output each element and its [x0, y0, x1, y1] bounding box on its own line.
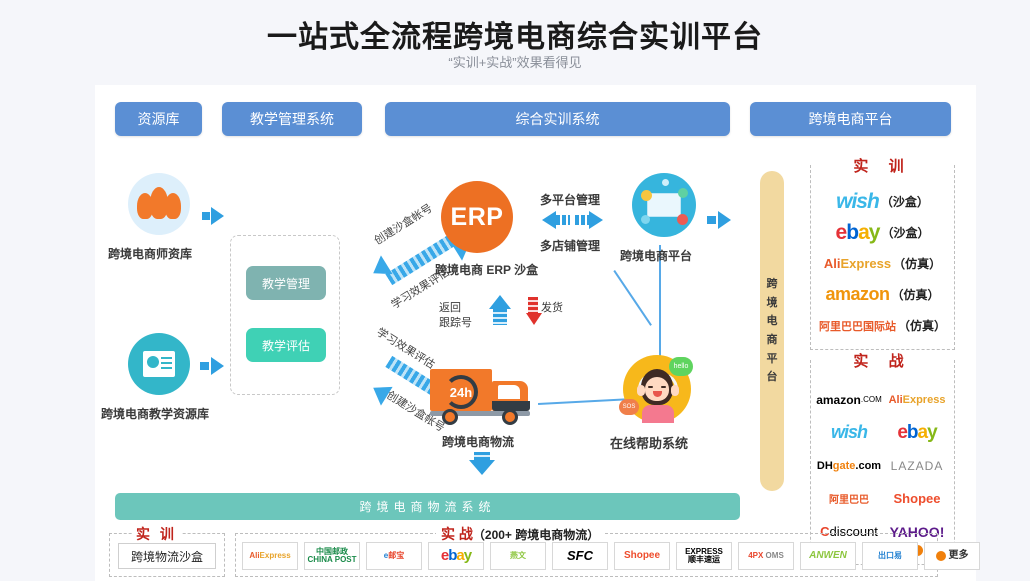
ebay-logo: ebay	[836, 221, 880, 245]
teacher-library-icon	[128, 173, 190, 235]
logistics-logo-sf-express: EXPRESS顺丰速运	[676, 542, 732, 570]
truck-24h-badge: 24h	[444, 375, 478, 409]
multi-shop-label: 多店铺管理	[540, 237, 600, 254]
training-row: AliExpress （仿真）	[811, 248, 954, 279]
practice-logo: Shopee	[883, 482, 951, 515]
teaching-resource-label: 跨境电商教学资源库	[101, 405, 209, 422]
teaching-resource-icon	[128, 333, 190, 395]
arrow-tail-icon	[200, 362, 209, 370]
wish-logo: wish	[836, 190, 879, 214]
practice-logo: wish	[815, 416, 883, 449]
arrow-down-icon	[526, 313, 542, 325]
practice-logo: LAZADA	[883, 449, 951, 482]
logistics-logo-sfc: SFC	[552, 542, 608, 570]
cross-border-platform-label: 跨境电商平台	[620, 247, 692, 264]
training-suffix: （沙盒）	[881, 193, 929, 210]
training-row: wish （沙盒）	[811, 186, 954, 217]
logistics-logo-4px: 4PX OMS	[738, 542, 794, 570]
arrow-bar-icon	[493, 309, 507, 325]
arrow-tail-icon	[707, 216, 716, 224]
training-panel-title: 实 训	[811, 155, 954, 176]
return-tracking-label-line1: 返回	[439, 299, 461, 315]
logistics-logo-anwen: ANWEN	[800, 542, 856, 570]
plus-icon	[936, 551, 946, 561]
nav-button-cross-border-ecommerce-platform[interactable]: 跨境电商平台	[750, 102, 951, 136]
page-title: 一站式全流程跨境电商综合实训平台	[0, 12, 1030, 56]
bottom-practice-group: 实 战（200+ 跨境电商物流） AliExpress 中国邮政CHINA PO…	[235, 533, 938, 577]
training-row: amazon （仿真）	[811, 279, 954, 310]
flow-label-create-sandbox-account: 创建沙盒帐号	[371, 200, 435, 249]
arrow-right-icon	[211, 357, 224, 375]
training-row: 阿里巴巴国际站 （仿真）	[811, 310, 954, 341]
logistics-logo-chukouyi: 出口易	[862, 542, 918, 570]
aliexpress-logo: AliExpress	[824, 256, 891, 271]
practice-logo: AliExpress	[883, 383, 951, 416]
connector-line	[538, 398, 628, 404]
sos-bubble: SOS	[619, 399, 639, 415]
training-suffix: （仿真）	[893, 255, 941, 272]
bottom-practice-count: （200+ 跨境电商物流）	[473, 528, 599, 542]
arrow-right-icon	[589, 211, 603, 229]
teaching-management-pill[interactable]: 教学管理	[246, 266, 326, 300]
arrow-bar-icon	[575, 215, 589, 225]
amazon-logo: amazon	[825, 284, 889, 305]
logistics-label: 跨境电商物流	[442, 433, 514, 450]
bottom-training-group: 实 训 跨境物流沙盒	[109, 533, 225, 577]
logistics-logo-shopee: Shopee	[614, 542, 670, 570]
logistics-truck-icon: 24h	[430, 365, 538, 427]
practice-logo: 阿里巴巴	[815, 482, 883, 515]
logistics-system-bar: 跨境电商物流系统	[115, 493, 740, 520]
nav-button-resource-library[interactable]: 资源库	[115, 102, 202, 136]
logistics-sandbox-box[interactable]: 跨境物流沙盒	[118, 543, 216, 569]
erp-sandbox-label: 跨境电商 ERP 沙盒	[435, 261, 538, 278]
training-row: ebay （沙盒）	[811, 217, 954, 248]
arrow-right-icon	[211, 207, 224, 225]
vertical-platform-bar: 跨境电商平台	[760, 171, 784, 491]
arrow-tail-icon	[202, 212, 210, 220]
hello-bubble: hello	[669, 357, 693, 376]
arrow-bar-icon	[528, 297, 538, 313]
training-suffix: （仿真）	[892, 286, 940, 303]
arrow-left-icon	[542, 211, 556, 229]
erp-logo: ERP	[441, 181, 513, 253]
bottom-practice-label: 实 战	[441, 526, 473, 542]
practice-panel-title: 实 战	[811, 350, 954, 371]
logistics-more-label: 更多	[949, 551, 969, 562]
logistics-logo-eyoubao: e邮宝	[366, 542, 422, 570]
page-subtitle: “实训+实战”效果看得见	[0, 52, 1030, 71]
training-suffix: （仿真）	[898, 317, 946, 334]
multi-platform-label: 多平台管理	[540, 191, 600, 208]
bottom-practice-title: 实 战（200+ 跨境电商物流）	[436, 524, 604, 544]
arrow-bar-icon	[556, 215, 570, 225]
training-suffix: （沙盒）	[881, 224, 929, 241]
diagram-card: 资源库 教学管理系统 综合实训系统 跨境电商平台 跨境电商师资库 跨境电商教学资…	[95, 85, 976, 581]
connector-line	[614, 270, 652, 326]
online-help-label: 在线帮助系统	[610, 433, 688, 452]
practice-logo: amazon.COM	[815, 383, 883, 416]
logistics-logo-aliexpress: AliExpress	[242, 542, 298, 570]
arrow-right-icon	[718, 211, 731, 229]
bottom-training-title: 实 训	[132, 524, 181, 544]
logistics-logo-china-post: 中国邮政CHINA POST	[304, 542, 360, 570]
practice-logo: DHgate.com	[815, 449, 883, 482]
teacher-library-label: 跨境电商师资库	[108, 245, 192, 262]
arrow-down-icon	[469, 460, 495, 475]
teaching-management-group: 教学管理 教学评估	[230, 235, 340, 395]
online-help-icon: hello SOS	[623, 355, 691, 423]
arrow-bar-icon	[474, 452, 490, 460]
logistics-logo-yanwen: 燕文	[490, 542, 546, 570]
teaching-assessment-pill[interactable]: 教学评估	[246, 328, 326, 362]
logistics-more-button[interactable]: 更多	[924, 542, 980, 570]
arrow-up-icon	[489, 295, 511, 309]
nav-button-teaching-management-system[interactable]: 教学管理系统	[222, 102, 362, 136]
ship-label: 发货	[541, 299, 563, 315]
alibaba-logo: 阿里巴巴国际站	[819, 318, 896, 334]
return-tracking-label-line2: 跟踪号	[439, 314, 472, 330]
nav-button-comprehensive-training-system[interactable]: 综合实训系统	[385, 102, 730, 136]
cross-border-platform-icon	[632, 173, 696, 237]
logistics-logo-ebay: ebay	[428, 542, 484, 570]
practice-logo: ebay	[883, 416, 951, 449]
training-panel: 实 训 wish （沙盒） ebay （沙盒） AliExpress （仿真） …	[810, 165, 955, 350]
